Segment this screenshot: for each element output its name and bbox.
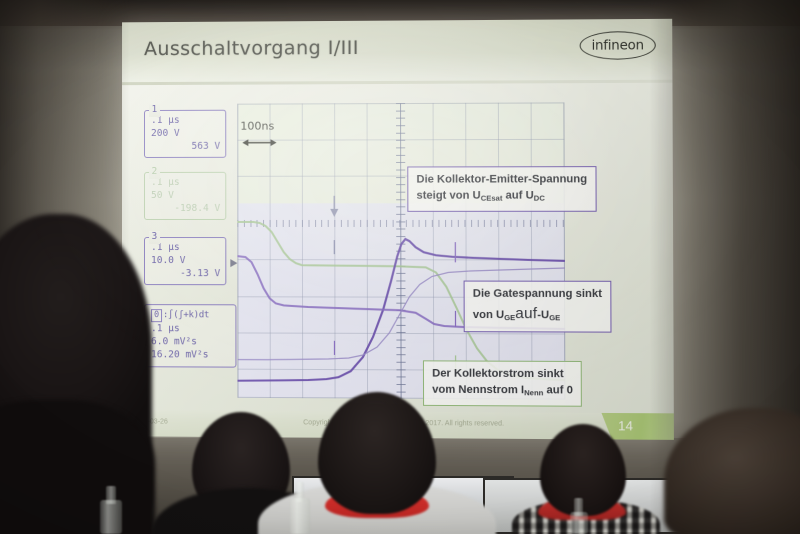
audience-body-far-left — [0, 400, 155, 534]
callout-emphasis-text: auf — [515, 305, 537, 322]
water-bottle-right — [570, 512, 588, 534]
measurement-channel-number: 3 — [149, 231, 160, 244]
measurement-box-channel-3[interactable]: 3 .1 µs 10.0 V -3.13 V — [144, 237, 226, 286]
callout-line-2: steigt von UCEsat auf UDC — [416, 188, 587, 204]
measurement-scale: 6.0 mV²s — [151, 336, 230, 349]
callout-text: vom Nennstrom I — [432, 384, 524, 397]
callout-text: steigt von U — [416, 190, 480, 202]
callout-subscript: Nenn — [524, 388, 543, 397]
callout-subscript: DC — [534, 193, 545, 202]
page-title: Ausschaltvorgang I/III — [144, 37, 359, 60]
measurement-timebase: .1 µs — [151, 177, 220, 190]
measurement-scale: 200 V — [151, 128, 220, 141]
projected-slide: Ausschaltvorgang I/III infineon — [122, 19, 674, 440]
callout-line-1: Die Gatespannung sinkt — [473, 287, 602, 303]
callout-subscript: CEsat — [481, 194, 503, 203]
down-arrow-marker — [330, 196, 338, 217]
oscilloscope-plot — [237, 102, 565, 399]
measurement-scale: 10.0 V — [151, 255, 220, 268]
callout-gate-voltage[interactable]: Die Gatespannung sinkt von UGEauf-UGE — [464, 281, 612, 333]
water-bottle-left — [100, 500, 122, 534]
measurement-scale: 50 V — [151, 190, 220, 203]
measurement-box-integral[interactable]: 0:∫(ʃ+k)dt .1 µs 6.0 mV²s 16.20 mV²s — [144, 304, 236, 367]
measurement-channel-number: 0 — [151, 309, 162, 323]
callout-line-2: vom Nennstrom INenn auf 0 — [432, 383, 573, 400]
infineon-logo: infineon — [580, 31, 656, 60]
measurement-channel-number: 2 — [149, 166, 160, 179]
callout-subscript: GE — [504, 313, 515, 322]
callout-text: -U — [537, 309, 549, 321]
page-number: 14 — [618, 418, 633, 433]
logo-text: infineon — [591, 38, 643, 53]
callout-subscript: GE — [549, 313, 560, 322]
measurement-box-channel-1[interactable]: 1 .1 µs 200 V 563 V — [144, 110, 226, 159]
measurement-timebase: .1 µs — [151, 242, 220, 255]
waveform-traces — [237, 102, 565, 399]
measurement-value: -3.13 V — [151, 268, 220, 281]
measurement-integral-header: 0:∫(ʃ+k)dt — [151, 309, 230, 323]
measurement-value: -198.4 V — [151, 203, 220, 216]
measurement-value: 16.20 mV²s — [151, 349, 230, 362]
measurement-channel-number: 1 — [149, 104, 160, 117]
measurement-value: 563 V — [151, 140, 220, 153]
callout-line-2: von UGEauf-UGE — [473, 303, 602, 325]
callout-line-1: Die Kollektor-Emitter-Spannung — [416, 172, 587, 188]
callout-collector-emitter-voltage[interactable]: Die Kollektor-Emitter-Spannung steigt vo… — [407, 166, 596, 212]
water-bottle-center — [290, 498, 310, 534]
photo-scene: Ausschaltvorgang I/III infineon — [0, 0, 800, 534]
time-scale-label: 100ns — [240, 120, 274, 133]
callout-line-1: Der Kollektorstrom sinkt — [432, 366, 573, 383]
callout-collector-current[interactable]: Der Kollektorstrom sinkt vom Nennstrom I… — [423, 360, 582, 406]
measurement-timebase: .1 µs — [151, 324, 230, 337]
measurement-timebase: .1 µs — [151, 115, 220, 128]
time-scale-arrow-icon — [242, 138, 276, 148]
measurement-box-channel-2[interactable]: 2 .1 µs 50 V -198.4 V — [144, 172, 226, 221]
channel-ground-marker-icon — [230, 259, 237, 267]
callout-text: auf U — [502, 189, 533, 201]
callout-text: von U — [473, 309, 504, 321]
measurement-integral-expression: :∫(ʃ+k)dt — [163, 310, 209, 320]
callout-text: auf 0 — [543, 384, 573, 396]
